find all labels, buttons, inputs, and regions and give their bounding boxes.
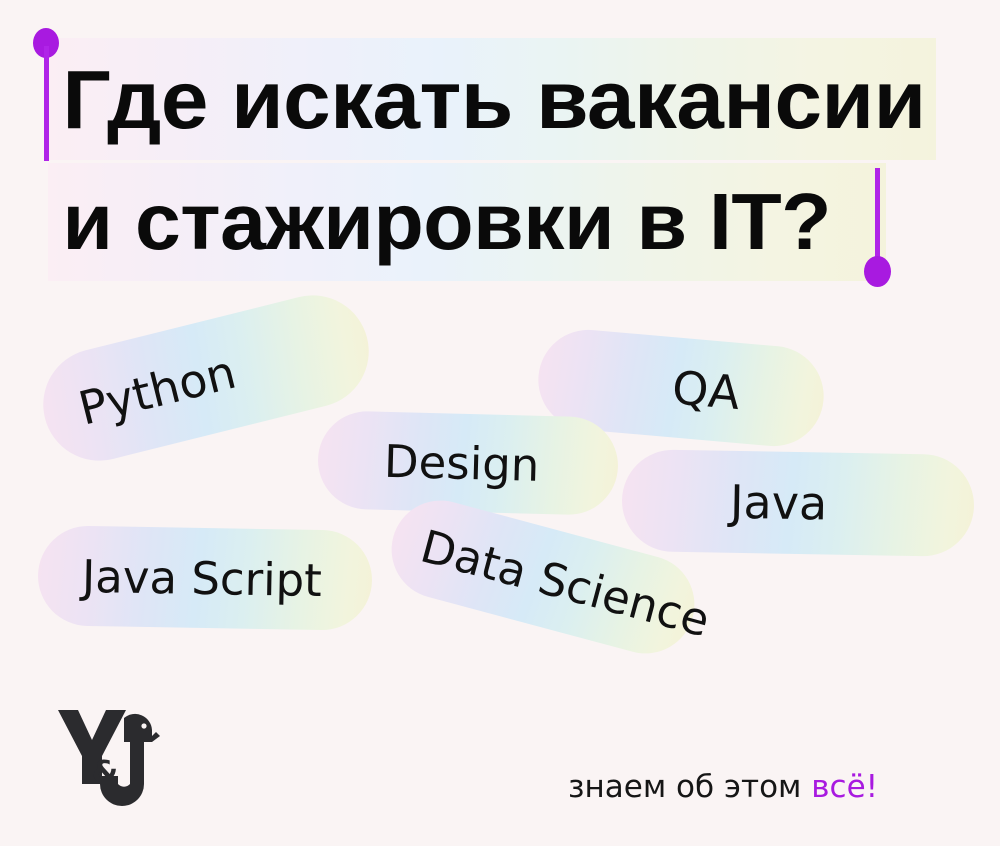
purple-line-icon-left: [44, 46, 49, 161]
tag-pill-label: Python: [39, 349, 240, 441]
tag-pill-label: Java Script: [38, 553, 323, 603]
poster-canvas: Где искать вакансии и стажировки в IT? P…: [0, 0, 1000, 846]
tagline-main-text: знаем об этом: [568, 769, 811, 805]
yj-duck-logo-icon: &: [52, 706, 168, 810]
title-band-line2: и стажировки в IT?: [48, 163, 886, 281]
purple-line-icon-right: [875, 168, 880, 260]
footer-tagline: знаем об этом всё!: [568, 772, 878, 803]
title-block: Где искать вакансии и стажировки в IT?: [0, 0, 1000, 300]
tagline-accent-text: всё!: [811, 769, 878, 805]
tag-pill-javascript[interactable]: Java Script: [37, 525, 373, 631]
tag-pill-label: Design: [317, 437, 539, 488]
tag-pill-design[interactable]: Design: [317, 410, 619, 516]
tag-pill-label: Java: [622, 477, 828, 527]
page-title-line2: и стажировки в IT?: [48, 182, 831, 262]
purple-dot-icon-bottom-right: [864, 256, 891, 287]
title-band-line1: Где искать вакансии: [48, 38, 936, 160]
tag-pill-java[interactable]: Java: [621, 449, 975, 557]
page-title-line1: Где искать вакансии: [48, 58, 926, 141]
tag-pill-label: QA: [670, 364, 825, 423]
